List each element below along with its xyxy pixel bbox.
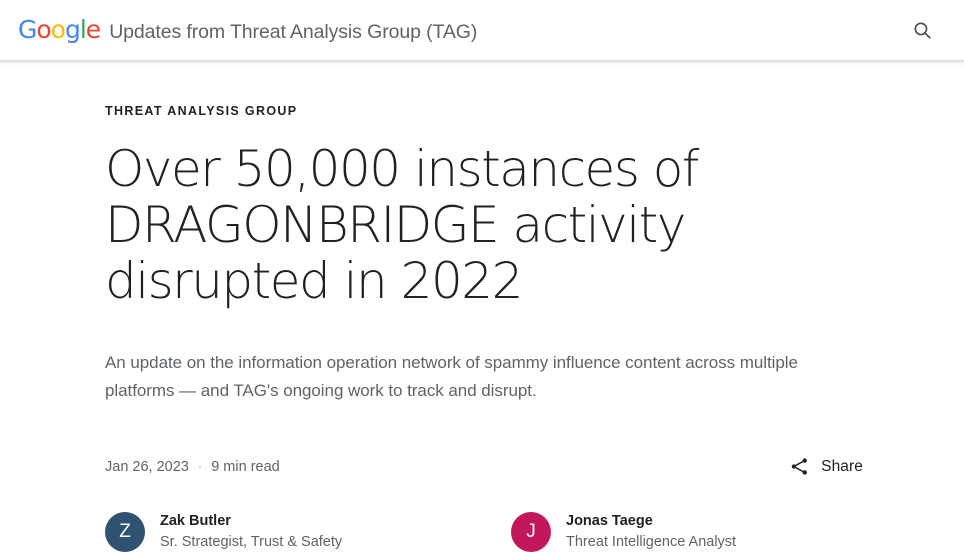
search-icon xyxy=(912,20,933,41)
author-name: Zak Butler xyxy=(160,511,342,532)
page-title: Over 50,000 instances of DRAGONBRIDGE ac… xyxy=(105,141,865,309)
share-icon xyxy=(789,456,810,477)
site-header: Google Updates from Threat Analysis Grou… xyxy=(0,0,964,60)
author-card[interactable]: Z Zak Butler Sr. Strategist, Trust & Saf… xyxy=(105,511,511,552)
article-byline-meta: Jan 26, 2023 · 9 min read xyxy=(105,459,280,475)
header-brand-group[interactable]: Google Updates from Threat Analysis Grou… xyxy=(18,17,902,43)
author-role: Threat Intelligence Analyst xyxy=(566,532,736,552)
author-role: Sr. Strategist, Trust & Safety xyxy=(160,532,342,552)
google-logo[interactable]: Google xyxy=(18,17,100,42)
share-button[interactable]: Share xyxy=(787,452,865,481)
author-name: Jonas Taege xyxy=(566,511,736,532)
authors-list: Z Zak Butler Sr. Strategist, Trust & Saf… xyxy=(105,511,865,552)
article-category-label[interactable]: THREAT ANALYSIS GROUP xyxy=(105,60,865,119)
author-card[interactable]: J Jonas Taege Threat Intelligence Analys… xyxy=(511,511,917,552)
search-icon-button[interactable] xyxy=(902,10,942,50)
article-standfirst: An update on the information operation n… xyxy=(105,349,820,404)
share-label: Share xyxy=(821,458,863,476)
read-time: 9 min read xyxy=(211,459,280,475)
avatar: Z xyxy=(105,512,145,552)
publish-date: Jan 26, 2023 xyxy=(105,459,189,475)
site-title[interactable]: Updates from Threat Analysis Group (TAG) xyxy=(109,23,477,43)
article-hero: THREAT ANALYSIS GROUP Over 50,000 instan… xyxy=(0,60,964,552)
meta-separator: · xyxy=(198,459,202,474)
avatar: J xyxy=(511,512,551,552)
article-meta-row: Jan 26, 2023 · 9 min read Share xyxy=(105,452,865,481)
